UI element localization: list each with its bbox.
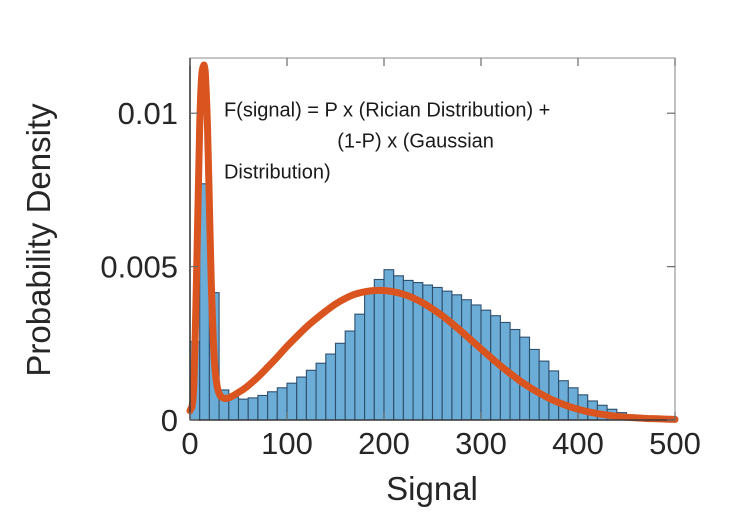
histogram-bar	[481, 310, 491, 420]
histogram-bar	[374, 279, 384, 420]
x-tick-label: 300	[455, 426, 507, 461]
y-tick-label: 0.005	[100, 250, 178, 285]
histogram-bar	[297, 377, 307, 420]
annotation-line: (1-P) x (Gaussian	[337, 130, 494, 152]
histogram-bars	[190, 184, 675, 420]
x-tick-label: 400	[552, 426, 604, 461]
y-axis-title: Probability Density	[20, 103, 57, 377]
figure-canvas: 0100200300400500 00.0050.01 Signal Proba…	[0, 0, 737, 525]
histogram-bar	[277, 388, 287, 420]
histogram-bar	[239, 399, 249, 420]
histogram-bar	[345, 331, 355, 420]
histogram-bar	[355, 314, 365, 420]
x-tick-label: 100	[261, 426, 313, 461]
model-equation-annotation: F(signal) = P x (Rician Distribution) +(…	[224, 99, 550, 183]
y-tick-label: 0.01	[118, 96, 178, 131]
histogram-bar	[268, 392, 278, 420]
y-tick-label: 0	[161, 403, 178, 438]
histogram-bar	[248, 398, 258, 420]
x-axis-title: Signal	[386, 470, 478, 507]
histogram-bar	[403, 280, 413, 420]
histogram-bar	[258, 395, 268, 420]
chart-plot: 0100200300400500 00.0050.01 Signal Proba…	[0, 0, 737, 525]
x-tick-labels: 0100200300400500	[181, 426, 700, 461]
histogram-bar	[336, 343, 346, 420]
x-tick-label: 500	[649, 426, 701, 461]
histogram-bar	[326, 354, 336, 420]
annotation-line: F(signal) = P x (Rician Distribution) +	[224, 99, 550, 121]
histogram-bar	[394, 276, 404, 420]
histogram-bar	[452, 295, 462, 420]
histogram-bar	[316, 363, 326, 420]
y-tick-labels: 00.0050.01	[100, 96, 178, 438]
histogram-bar	[306, 370, 316, 420]
annotation-line: Distribution)	[224, 161, 331, 183]
histogram-bar	[287, 383, 297, 420]
histogram-bar	[471, 305, 481, 420]
histogram-bar	[365, 291, 375, 420]
histogram-bar	[462, 300, 472, 420]
x-tick-label: 0	[181, 426, 198, 461]
x-tick-label: 200	[358, 426, 410, 461]
histogram-bar	[442, 291, 452, 420]
